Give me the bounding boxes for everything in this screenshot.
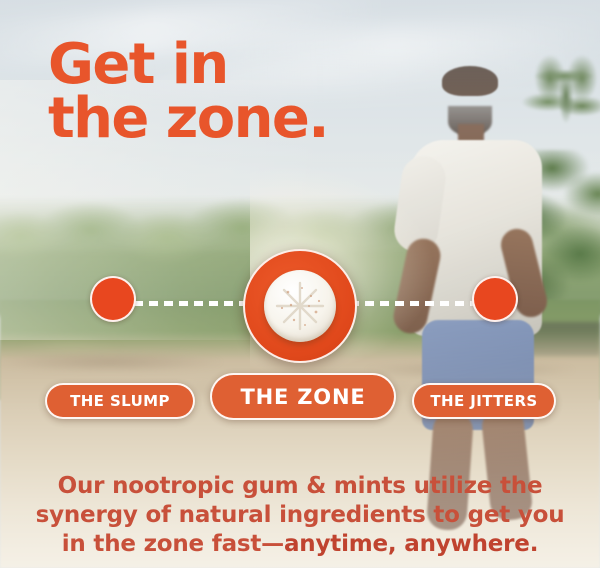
- connector-line-left: [134, 301, 256, 306]
- stage-label-jitters[interactable]: THE JITTERS: [412, 383, 556, 419]
- stage-label-slump[interactable]: THE SLUMP: [45, 383, 195, 419]
- tagline-emphasis: anytime, anywhere.: [284, 531, 538, 557]
- stage-label-zone-text: THE ZONE: [241, 385, 366, 409]
- connector-line-right: [350, 301, 476, 306]
- tagline-dash: —: [261, 531, 284, 557]
- page-title: Get in the zone.: [48, 38, 328, 146]
- stage-node-slump[interactable]: [90, 276, 136, 322]
- stage-label-slump-text: THE SLUMP: [70, 392, 170, 410]
- mint-tablet-icon: [264, 270, 336, 342]
- stage-label-zone[interactable]: THE ZONE: [210, 373, 396, 420]
- stage-node-jitters[interactable]: [472, 276, 518, 322]
- stage-node-zone[interactable]: [243, 249, 357, 363]
- advertisement-banner: Get in the zone.: [0, 0, 600, 568]
- ad-content-layer: Get in the zone.: [0, 0, 600, 568]
- tagline: Our nootropic gum & mints utilize the sy…: [0, 472, 600, 559]
- stage-label-jitters-text: THE JITTERS: [430, 392, 537, 410]
